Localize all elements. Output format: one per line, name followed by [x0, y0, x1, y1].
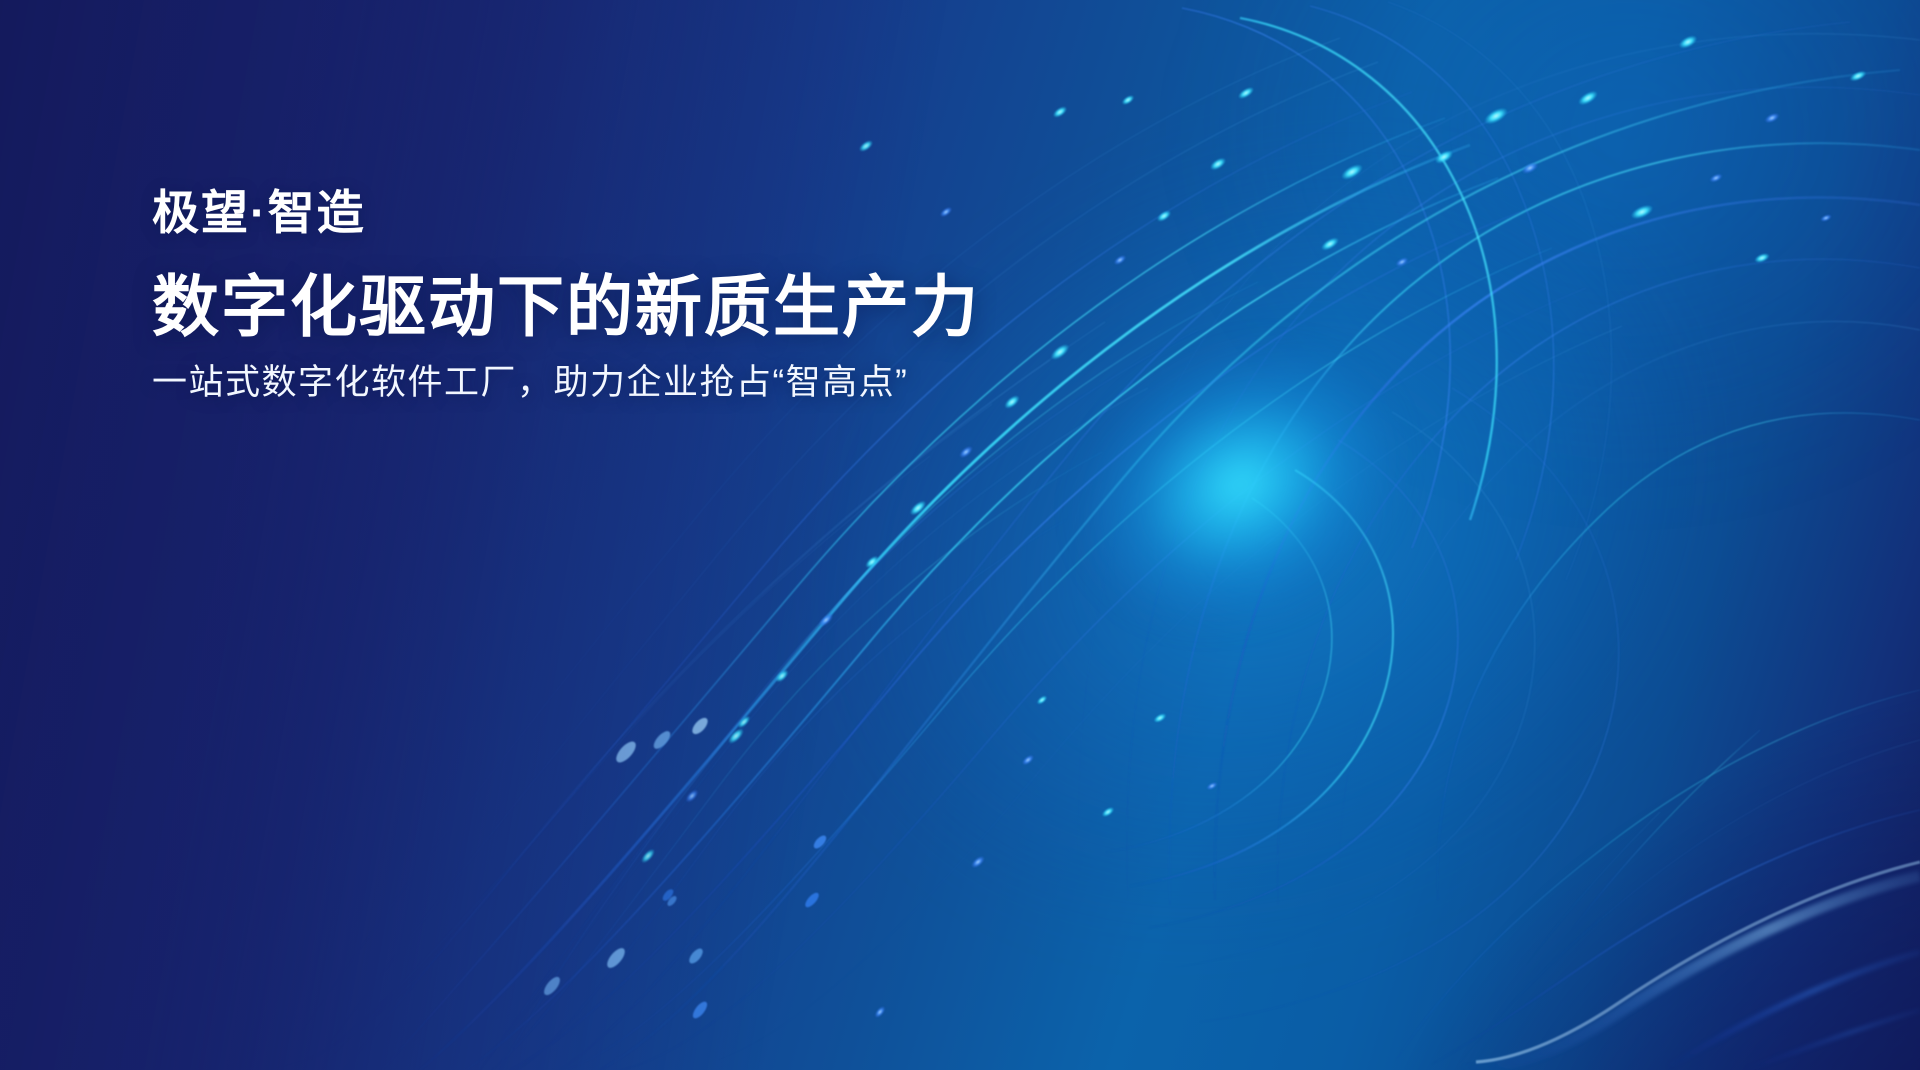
page-subtitle: 一站式数字化软件工厂，助力企业抢占“智高点”: [152, 361, 1152, 405]
hero-banner: 极望·智造 数字化驱动下的新质生产力 一站式数字化软件工厂，助力企业抢占“智高点…: [0, 0, 1920, 1070]
brand-line: 极望·智造: [152, 185, 1152, 240]
background-vignette-bottom-right: [0, 0, 1920, 1070]
hero-copy: 极望·智造 数字化驱动下的新质生产力 一站式数字化软件工厂，助力企业抢占“智高点…: [152, 185, 1152, 405]
page-title: 数字化驱动下的新质生产力: [152, 270, 1152, 345]
background-glow-upper: [1250, 0, 1920, 440]
vortex-artwork: [0, 0, 1920, 1070]
background-vignette-left: [0, 0, 1920, 1070]
background-glow-halo: [717, 14, 1823, 1045]
